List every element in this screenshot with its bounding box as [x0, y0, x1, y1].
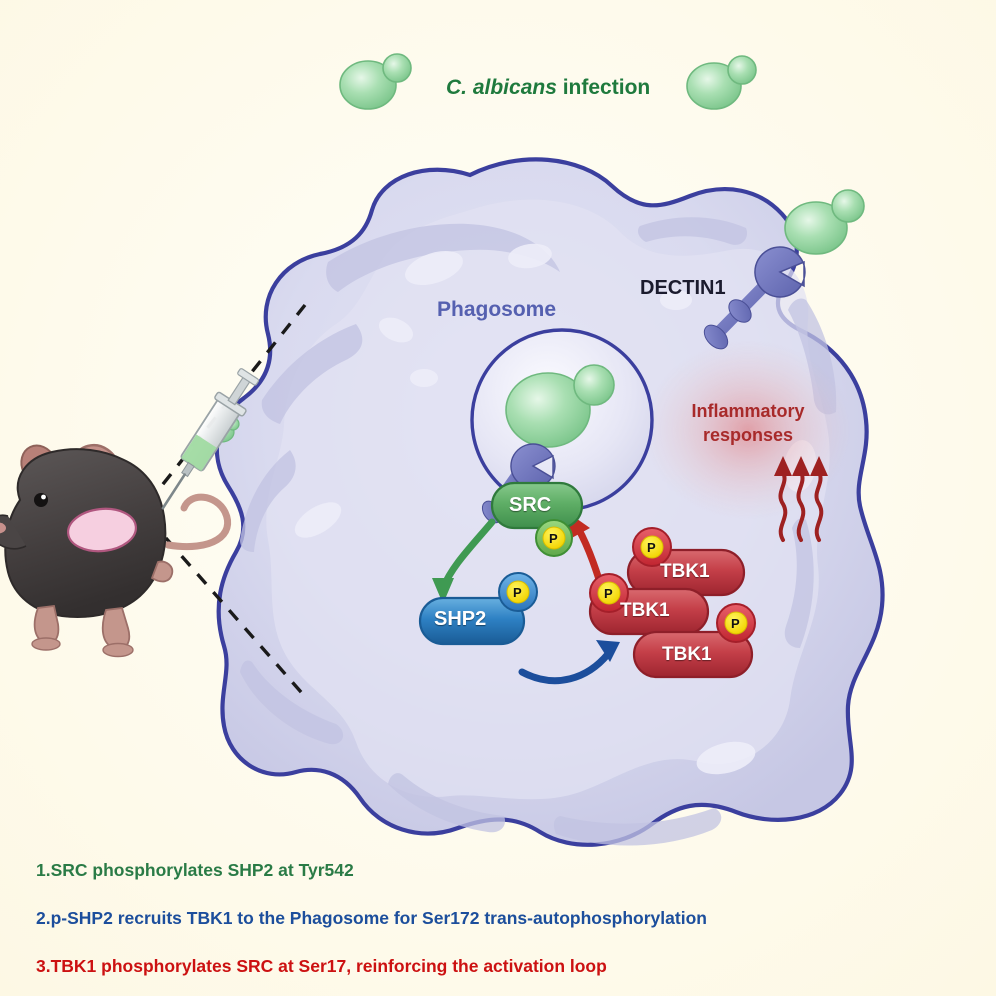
dectin1-label: DECTIN1 [640, 277, 726, 300]
legend-step-2: 2.p-SHP2 recruits TBK1 to the Phagosome … [36, 908, 707, 929]
phospho-badge-tbk1-top [633, 528, 671, 566]
figure-canvas: C. albicans infection Phagosome DECTIN1 … [0, 0, 996, 996]
title-suffix: infection [557, 76, 650, 99]
mouse-eye [34, 493, 48, 507]
phospho-badge-shp2 [499, 573, 537, 611]
phospho-badge-tbk1-bottom [717, 604, 755, 642]
title-species: C. albicans [446, 76, 557, 99]
figure-title: C. albicans infection [446, 76, 650, 100]
protein-node-src[interactable] [492, 483, 582, 528]
inflammatory-responses-label: Inflammatory responses [672, 400, 824, 448]
pathway-diagram-svg [0, 0, 996, 996]
legend-step-1: 1.SRC phosphorylates SHP2 at Tyr542 [36, 860, 354, 881]
legend-step-3: 3.TBK1 phosphorylates SRC at Ser17, rein… [36, 956, 607, 977]
phagosome-label: Phagosome [437, 298, 556, 322]
phospho-badge-tbk1-mid [590, 574, 628, 612]
phospho-badge-src [536, 520, 572, 556]
inflammatory-line-1: Inflammatory [691, 401, 804, 421]
inflammatory-line-2: responses [703, 425, 793, 445]
